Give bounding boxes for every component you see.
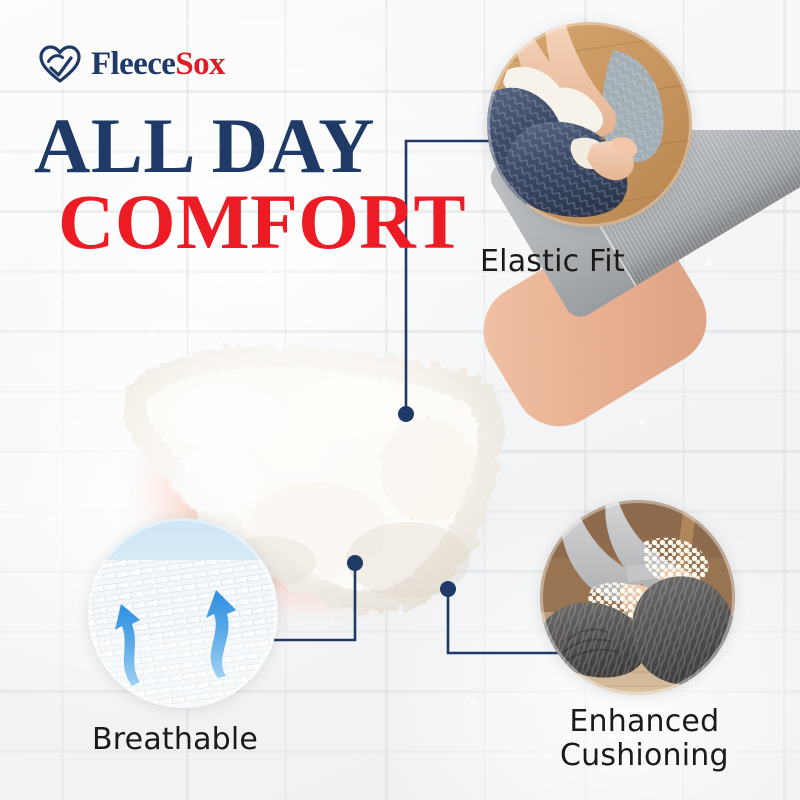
brand-name-sox: Sox (175, 46, 225, 82)
advertisement-canvas: FleeceSox ALL DAY COMFORT Elastic Fit Br… (0, 0, 800, 800)
bokeh-dot (188, 18, 195, 25)
heart-swoosh-icon (38, 44, 82, 84)
feature-image-breathable (88, 518, 278, 708)
brand-name: FleeceSox (91, 48, 225, 81)
feature-label-enhanced-cushioning-line1: Enhanced (560, 705, 729, 739)
feature-label-enhanced-cushioning-line2: Cushioning (560, 739, 729, 773)
feature-label-enhanced-cushioning: Enhanced Cushioning (560, 705, 729, 772)
feature-label-elastic-fit: Elastic Fit (480, 244, 625, 279)
feature-image-elastic-fit (487, 22, 692, 227)
bokeh-dot (56, 300, 61, 305)
feature-label-breathable: Breathable (92, 722, 258, 757)
page-title: ALL DAY COMFORT (34, 110, 466, 258)
headline-line-2: COMFORT (58, 186, 466, 258)
brand-logo[interactable]: FleeceSox (38, 44, 225, 84)
headline-line-1: ALL DAY (34, 110, 466, 182)
feature-image-enhanced-cushioning (540, 500, 735, 695)
brand-name-fleece: Fleece (91, 46, 175, 82)
bokeh-dot (430, 60, 434, 64)
bokeh-dot (300, 96, 304, 100)
bokeh-dot (470, 700, 475, 705)
bokeh-dot (268, 268, 273, 273)
